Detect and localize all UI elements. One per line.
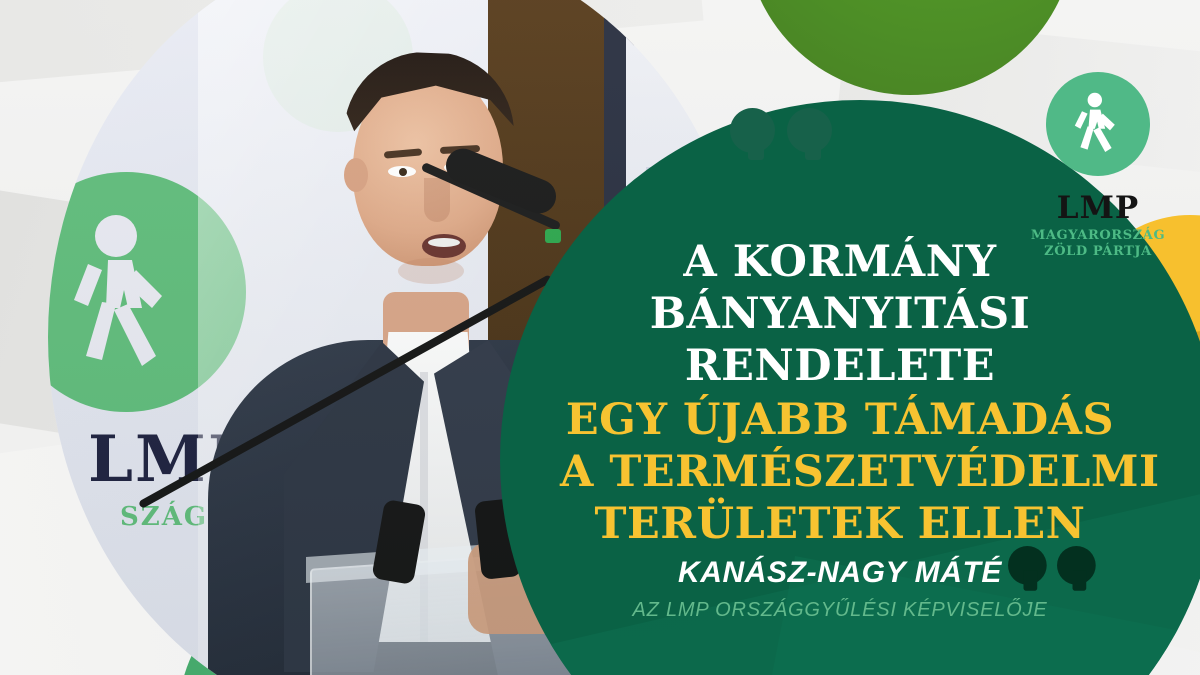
lmp-tagline-line-2: ZÖLD PÁRTJA <box>1028 244 1168 260</box>
attribution-block: KANÁSZ-NAGY MÁTÉ AZ LMP ORSZÁGGYŰLÉSI KÉ… <box>560 556 1120 622</box>
lmp-wordmark: LMP <box>1028 192 1168 224</box>
headline-line-4: EGY ÚJABB TÁMADÁS <box>560 394 1120 446</box>
lmp-logo-lockup: LMP MAGYARORSZÁG ZÖLD PÁRTJA <box>1028 72 1168 260</box>
headline-line-2: BÁNYANYITÁSI <box>560 288 1120 340</box>
headline-line-3: RENDELETE <box>560 340 1120 392</box>
lmp-tagline: MAGYARORSZÁG ZÖLD PÁRTJA <box>1028 228 1168 260</box>
speaker-name: KANÁSZ-NAGY MÁTÉ <box>560 556 1120 590</box>
lmp-tagline-line-1: MAGYARORSZÁG <box>1028 228 1168 244</box>
headline-block: A KORMÁNY BÁNYANYITÁSI RENDELETE EGY ÚJA… <box>560 236 1120 550</box>
headline-line-5: A TERMÉSZETVÉDELMI <box>560 446 1120 498</box>
social-card-canvas: LMP SZÁG <box>0 0 1200 675</box>
headline-line-6: TERÜLETEK ELLEN <box>560 498 1120 550</box>
quote-mark-top <box>730 108 832 153</box>
quotation-mark-icon <box>730 108 775 153</box>
quotation-mark-icon <box>787 108 832 153</box>
speaker-role: AZ LMP ORSZÁGGYŰLÉSI KÉPVISELŐJE <box>560 599 1120 622</box>
walking-person-icon <box>1046 72 1150 176</box>
